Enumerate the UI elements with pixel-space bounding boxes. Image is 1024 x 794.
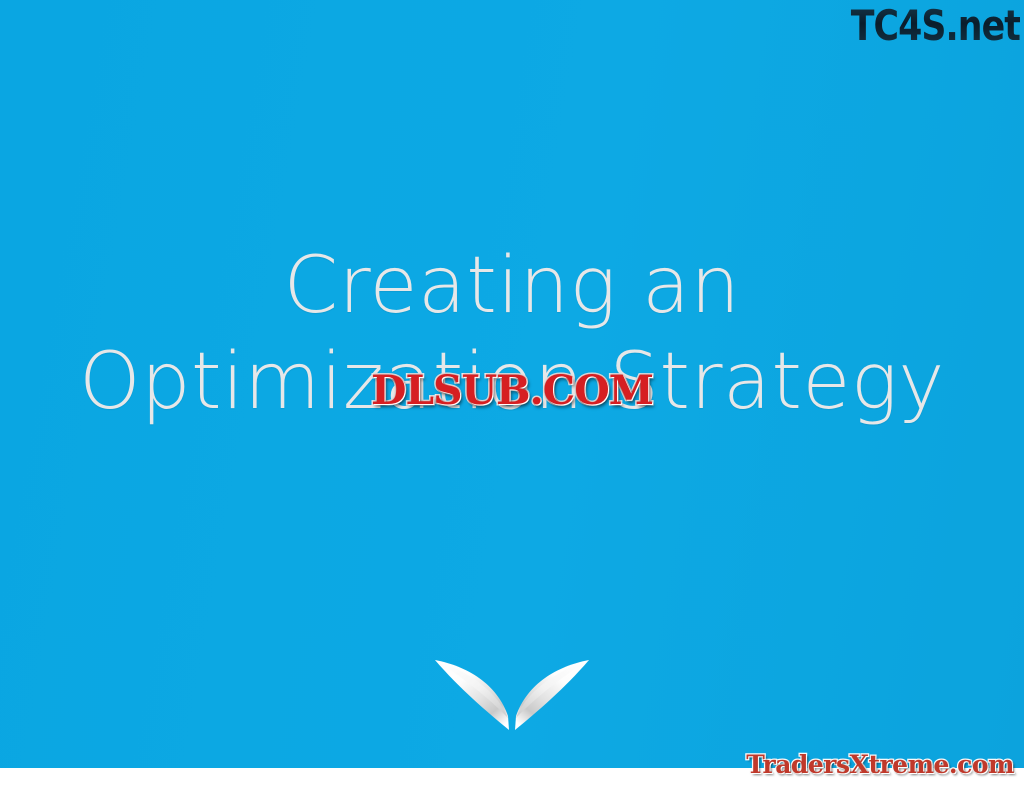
wings-chevron-logo-icon [427, 650, 597, 734]
tc4s-brand-label: TC4S.net [851, 2, 1020, 50]
tradersxtreme-watermark: TradersXtreme.com [746, 750, 1014, 780]
dlsub-watermark: DLSUB.COM [371, 369, 653, 413]
presentation-slide: TC4S.net Creating an Optimization Strate… [0, 0, 1024, 794]
slide-blue-canvas: TC4S.net Creating an Optimization Strate… [0, 0, 1024, 768]
title-line-1: Creating an [0, 238, 1024, 334]
